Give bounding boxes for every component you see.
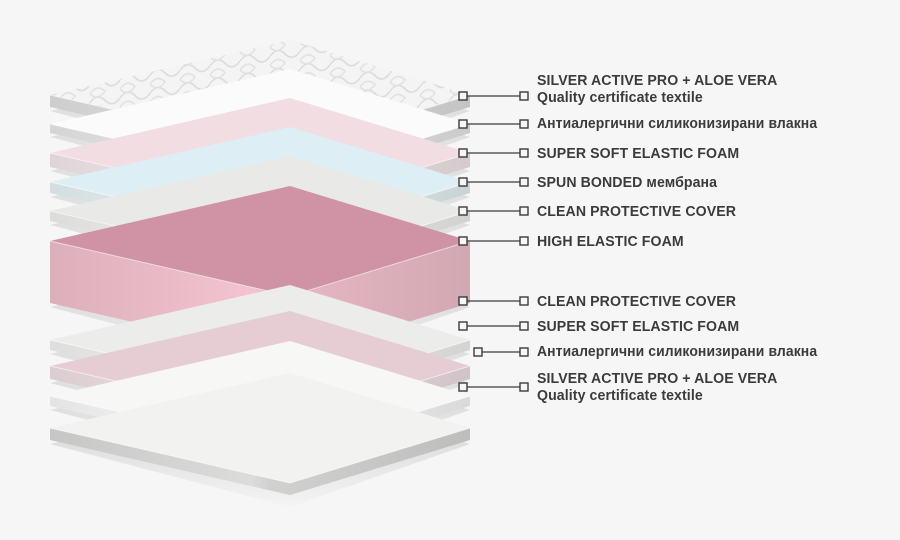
mattress-layers-diagram: SILVER ACTIVE PRO + ALOE VERAQuality cer… bbox=[0, 0, 900, 540]
leader-marker-end bbox=[520, 207, 528, 215]
leader-marker-start bbox=[459, 297, 467, 305]
leader-spun-bonded-membrane bbox=[459, 178, 528, 186]
leader-marker-start bbox=[459, 237, 467, 245]
leader-marker-start bbox=[459, 92, 467, 100]
leader-marker-end bbox=[520, 348, 528, 356]
leader-marker-end bbox=[520, 120, 528, 128]
leader-marker-start bbox=[459, 149, 467, 157]
leader-top-antialergic-fibres bbox=[459, 120, 528, 128]
leader-marker-start bbox=[459, 178, 467, 186]
leader-marker-end bbox=[520, 322, 528, 330]
leader-top-super-soft-elastic-foam bbox=[459, 149, 528, 157]
leader-top-clean-protective-cover bbox=[459, 207, 528, 215]
leader-bottom-clean-protective-cover bbox=[459, 297, 528, 305]
leader-marker-start bbox=[459, 383, 467, 391]
leader-marker-end bbox=[520, 237, 528, 245]
leader-marker-end bbox=[520, 178, 528, 186]
leader-marker-end bbox=[520, 383, 528, 391]
leader-marker-start bbox=[474, 348, 482, 356]
leader-lines-group bbox=[0, 0, 900, 540]
leader-high-elastic-foam bbox=[459, 237, 528, 245]
leader-marker-end bbox=[520, 92, 528, 100]
leader-marker-start bbox=[459, 120, 467, 128]
leader-bottom-super-soft-elastic-foam bbox=[459, 322, 528, 330]
leader-marker-end bbox=[520, 297, 528, 305]
leader-bottom-antialergic-fibres bbox=[474, 348, 528, 356]
leader-marker-end bbox=[520, 149, 528, 157]
leader-marker-start bbox=[459, 207, 467, 215]
leader-marker-start bbox=[459, 322, 467, 330]
leader-top-silver-active bbox=[459, 92, 528, 100]
leader-bottom-silver-active bbox=[459, 383, 528, 391]
